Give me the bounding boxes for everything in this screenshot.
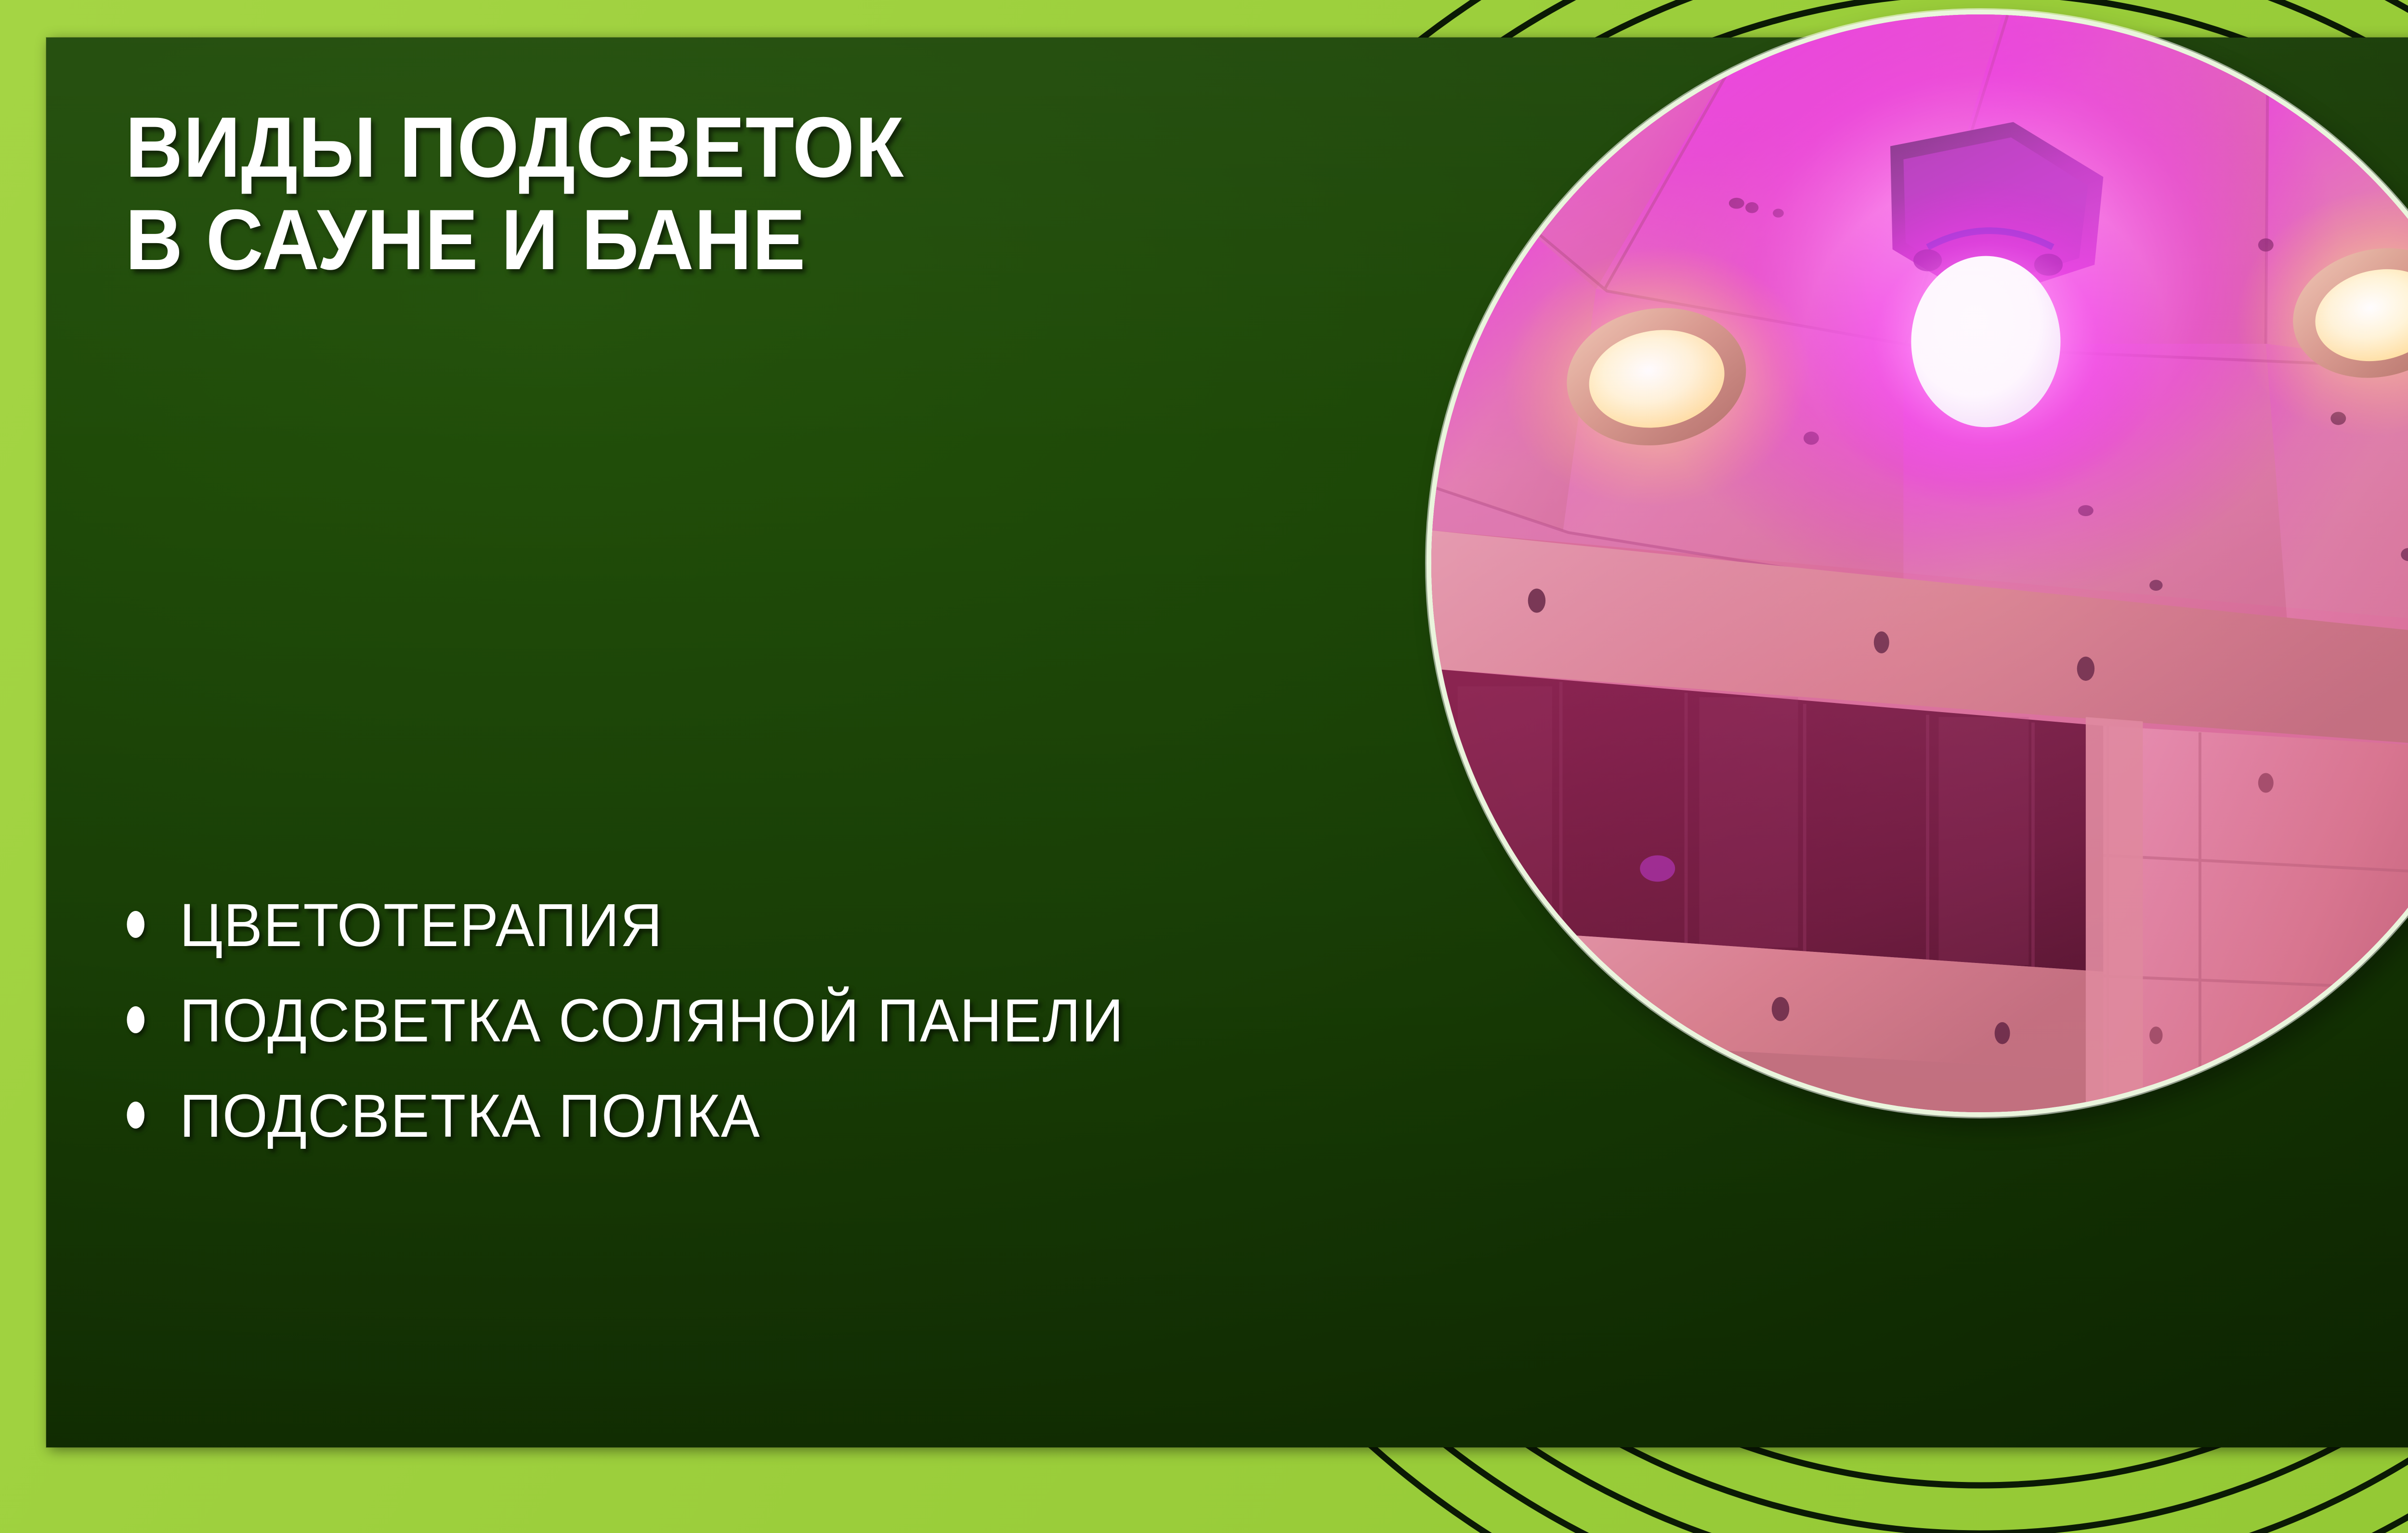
list-item: ПОДСВЕТКА ПОЛКА — [120, 1077, 1276, 1156]
headline-block: ВИДЫ ПОДСВЕТОК В САУНЕ И БАНЕ — [125, 101, 1291, 286]
bullet-dot-icon — [127, 1006, 144, 1033]
poster-canvas: ВИДЫ ПОДСВЕТОК В САУНЕ И БАНЕ ЦВЕТОТЕРАП… — [0, 0, 2408, 1533]
list-item: ЦВЕТОТЕРАПИЯ — [120, 886, 1276, 965]
list-item-label: ПОДСВЕТКА ПОЛКА — [180, 1082, 761, 1150]
page-title: ВИДЫ ПОДСВЕТОК В САУНЕ И БАНЕ — [125, 101, 1209, 286]
list-item-label: ЦВЕТОТЕРАПИЯ — [180, 891, 663, 959]
bullet-dot-icon — [127, 911, 144, 938]
bullet-dot-icon — [127, 1102, 144, 1129]
list-item-label: ПОДСВЕТКА СОЛЯНОЙ ПАНЕЛИ — [180, 987, 1125, 1054]
list-item: ПОДСВЕТКА СОЛЯНОЙ ПАНЕЛИ — [120, 981, 1276, 1060]
feature-list: ЦВЕТОТЕРАПИЯ ПОДСВЕТКА СОЛЯНОЙ ПАНЕЛИ ПО… — [120, 886, 1324, 1171]
